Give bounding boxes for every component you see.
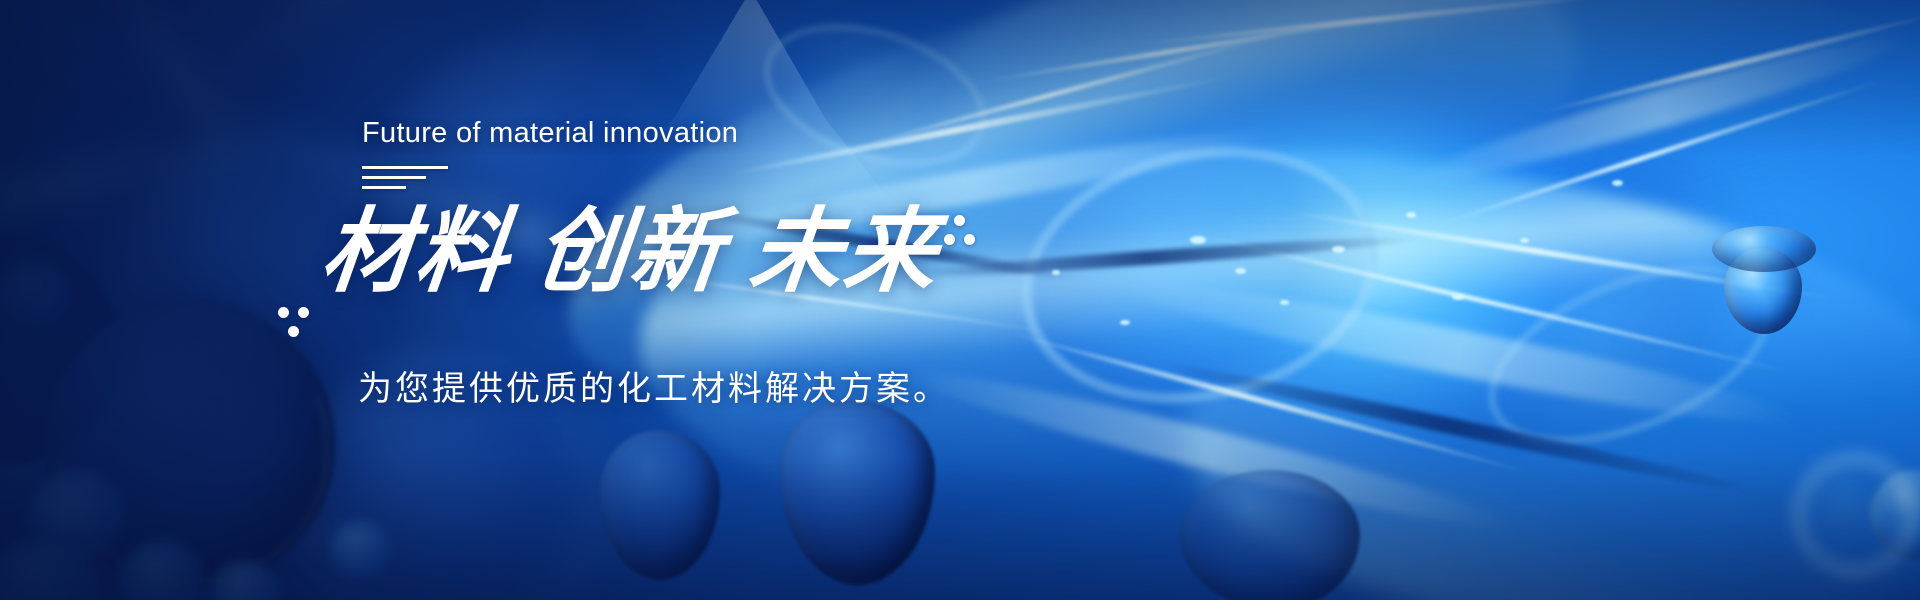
decorative-rule-3 (362, 186, 406, 189)
headline-segment-2: 创新 (531, 201, 730, 303)
decorative-rule-1 (362, 166, 448, 169)
banner-subtitle: 为您提供优质的化工材料解决方案。 (358, 369, 1080, 410)
quote-close-icon (940, 215, 980, 255)
headline-segment-1: 材料 (317, 201, 516, 303)
hero-banner: Future of material innovation 材料创新未来 为您提… (0, 0, 1920, 600)
quote-open-icon (278, 307, 318, 347)
decorative-rule-2 (362, 176, 426, 179)
banner-headline-row: 材料创新未来 (278, 203, 1080, 347)
decorative-rules (362, 166, 1080, 189)
headline-segment-3: 未来 (745, 201, 944, 303)
banner-eyebrow: Future of material innovation (362, 118, 1080, 150)
banner-text-block: Future of material innovation 材料创新未来 为您提… (300, 118, 1080, 410)
banner-headline: 材料创新未来 (317, 203, 943, 302)
